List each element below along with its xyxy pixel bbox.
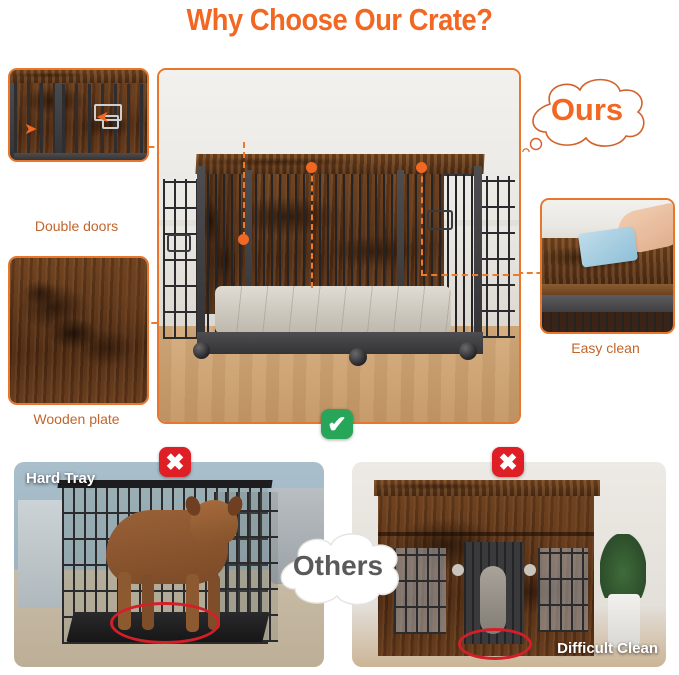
ours-bubble: Ours (522, 74, 652, 152)
page-title: Why Choose Our Crate? (41, 2, 639, 38)
double-doors-panel: ➤ ➤ (8, 68, 149, 162)
crate-post-right (474, 166, 482, 342)
crate-base-frame (197, 332, 483, 354)
easy-clean-wood-edge (542, 284, 673, 295)
drawer-seam (378, 532, 594, 536)
callout-line-b (311, 166, 313, 288)
easy-clean-bars (542, 312, 673, 332)
arrow-right-icon: ➤ (24, 122, 37, 138)
crate-post-left (197, 166, 205, 341)
wooden-plate-panel (8, 256, 149, 405)
difficult-clean-label: Difficult Clean (557, 640, 658, 657)
others-bubble-text: Others (269, 525, 407, 607)
hard-tray-highlight-ellipse (110, 602, 220, 644)
door-latch-right-icon (427, 210, 453, 230)
callout-dot-c (416, 162, 427, 173)
double-doors-caption: Double doors (8, 218, 145, 234)
open-door-left-mesh (163, 179, 199, 339)
infographic-root: Why Choose Our Crate? ➤ ➤ Double doors W… (0, 0, 679, 675)
door-post-center (55, 70, 62, 160)
cross-badge-left: ✖ (159, 447, 191, 477)
caster-wheel-back-left (193, 342, 210, 359)
easy-clean-panel (540, 198, 675, 334)
callout-line-c (421, 166, 423, 276)
potted-plant-leaves (600, 534, 646, 598)
arrow-left-icon: ➤ (96, 110, 109, 126)
hard-tray-label: Hard Tray (26, 470, 95, 487)
caster-wheel-right (459, 342, 477, 360)
dog-inside-crate (480, 566, 506, 634)
ours-bubble-text: Ours (522, 70, 652, 148)
wood-knot-marks (10, 258, 147, 403)
callout-dot-b (306, 162, 317, 173)
easy-clean-caption: Easy clean (540, 340, 671, 356)
callout-line-a (243, 142, 245, 238)
callout-line-c-horizontal (421, 274, 519, 276)
wooden-plate-caption: Wooden plate (8, 411, 145, 427)
cross-badge-right: ✖ (492, 447, 524, 477)
caster-wheel-front-left (349, 348, 367, 366)
background-shelf (18, 500, 62, 608)
crate-wood-top (195, 154, 484, 174)
check-badge: ✔ (321, 409, 353, 439)
door-bars-left (14, 78, 56, 160)
others-bubble: Others (269, 528, 407, 610)
door-latch-left-icon (167, 234, 191, 252)
wood-crate-top (374, 480, 600, 496)
callout-dot-a (238, 234, 249, 245)
bottom-rail (14, 153, 147, 160)
crate-top-board (10, 70, 147, 83)
main-crate-photo (157, 68, 521, 424)
hinge-right-icon (524, 564, 536, 576)
crate-cushion (215, 286, 451, 334)
difficult-clean-highlight-ellipse (458, 628, 532, 660)
crate-door-mesh-right (538, 548, 588, 632)
hinge-left-icon (452, 564, 464, 576)
easy-clean-metal-rail (542, 295, 673, 313)
